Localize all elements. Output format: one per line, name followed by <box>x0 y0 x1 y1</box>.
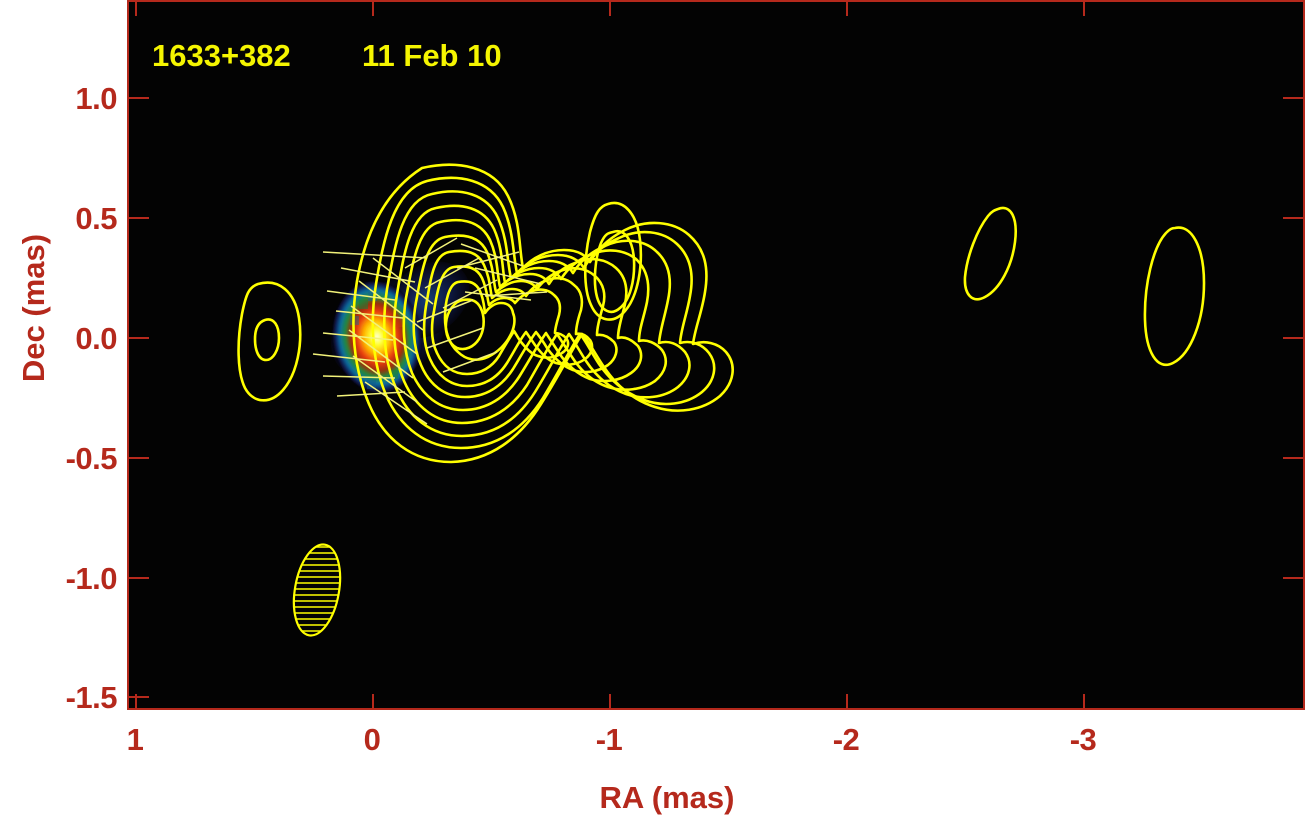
blob-c2-contour <box>965 208 1016 299</box>
ytick-right-0.0 <box>1283 337 1305 339</box>
ytick-right-0.5 <box>1283 217 1305 219</box>
observation-date-label: 11 Feb 10 <box>362 38 502 74</box>
xtick-label--2: -2 <box>796 722 896 758</box>
ytick--1.0 <box>127 577 149 579</box>
xtick-top--3 <box>1083 0 1085 16</box>
xtick-label--3: -3 <box>1033 722 1133 758</box>
xaxis-title: RA (mas) <box>567 780 767 816</box>
ytick-label-0.5: 0.5 <box>75 201 117 237</box>
source-name-label: 1633+382 <box>152 38 291 74</box>
ytick-label-0.0: 0.0 <box>75 321 117 357</box>
xtick-label-1: 1 <box>85 722 185 758</box>
xtick-top--2 <box>846 0 848 16</box>
figure-root: 1633+382 11 Feb 10 <box>0 0 1307 820</box>
ytick-label--1.5: -1.5 <box>66 680 117 716</box>
xtick-label--1: -1 <box>559 722 659 758</box>
blob-c1-contour <box>585 203 641 320</box>
xtick--3 <box>1083 694 1085 710</box>
blob-c3-contour <box>1145 228 1204 365</box>
plot-area: 1633+382 11 Feb 10 <box>127 0 1305 710</box>
restoring-beam-ellipse <box>277 535 357 645</box>
ytick-0.5 <box>127 217 149 219</box>
xtick--2 <box>846 694 848 710</box>
xtick-top-0 <box>372 0 374 16</box>
xtick-0 <box>372 694 374 710</box>
xtick-top-1 <box>135 0 137 16</box>
ytick--1.5 <box>127 696 149 698</box>
xtick--1 <box>609 694 611 710</box>
ytick-1.0 <box>127 97 149 99</box>
ytick-right--1.0 <box>1283 577 1305 579</box>
ytick-label-1.0: 1.0 <box>75 81 117 117</box>
ytick-label--0.5: -0.5 <box>66 441 117 477</box>
core-contour-set <box>353 165 732 462</box>
blob-east-contour <box>239 283 301 401</box>
xtick-top--1 <box>609 0 611 16</box>
ytick-right-1.0 <box>1283 97 1305 99</box>
xtick-1 <box>135 694 137 710</box>
xtick-label-0: 0 <box>322 722 422 758</box>
ytick-0.0 <box>127 337 149 339</box>
ytick-right--0.5 <box>1283 457 1305 459</box>
ytick--0.5 <box>127 457 149 459</box>
yaxis-title: Dec (mas) <box>16 218 52 398</box>
ytick-label--1.0: -1.0 <box>66 561 117 597</box>
